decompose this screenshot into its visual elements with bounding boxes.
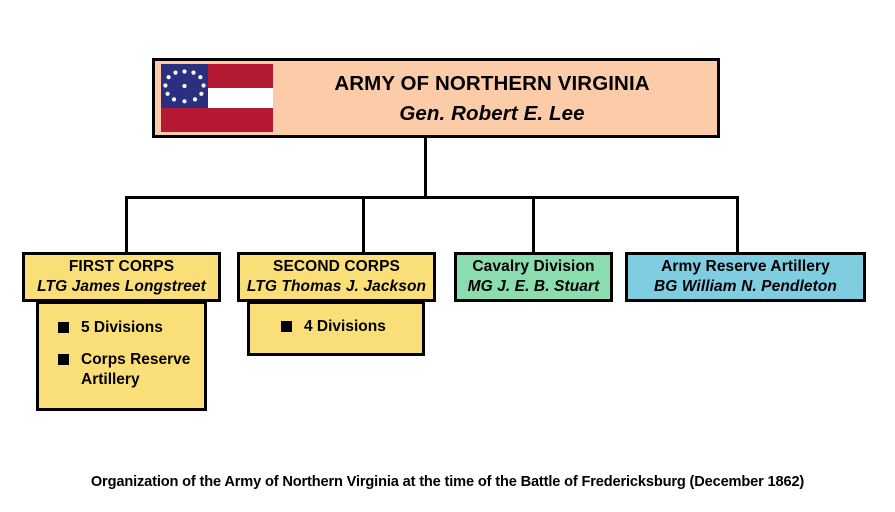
root-text-group: ARMY OF NORTHERN VIRGINIA Gen. Robert E.… [267, 71, 717, 126]
second-corps-commander: LTG Thomas J. Jackson [247, 278, 426, 297]
artillery-commander: BG William N. Pendleton [654, 278, 837, 297]
first-corps-title: FIRST CORPS [69, 258, 174, 277]
cavalry-commander: MG J. E. B. Stuart [468, 278, 600, 297]
first-corps-subunit-label: 5 Divisions [81, 318, 163, 337]
root-title: ARMY OF NORTHERN VIRGINIA [334, 71, 649, 96]
confederate-stars-and-bars-flag-icon [161, 64, 273, 132]
chart-caption: Organization of the Army of Northern Vir… [0, 474, 895, 490]
second-corps-subunit-label: 4 Divisions [304, 317, 386, 336]
cavalry-title: Cavalry Division [472, 258, 594, 277]
node-second-corps[interactable]: SECOND CORPS LTG Thomas J. Jackson [237, 252, 436, 302]
bullet-square-icon [281, 321, 292, 332]
second-corps-subunits-box: 4 Divisions [247, 301, 425, 356]
node-army-reserve-artillery[interactable]: Army Reserve Artillery BG William N. Pen… [625, 252, 866, 302]
node-army-of-northern-virginia[interactable]: ARMY OF NORTHERN VIRGINIA Gen. Robert E.… [152, 58, 720, 138]
bullet-square-icon [58, 354, 69, 365]
root-commander: Gen. Robert E. Lee [399, 101, 584, 126]
first-corps-subunits-box: 5 Divisions Corps Reserve Artillery [36, 301, 207, 411]
artillery-title: Army Reserve Artillery [661, 258, 830, 277]
bullet-square-icon [58, 322, 69, 333]
node-cavalry-division[interactable]: Cavalry Division MG J. E. B. Stuart [454, 252, 613, 302]
first-corps-subunit-label: Corps Reserve Artillery [81, 350, 204, 389]
second-corps-title: SECOND CORPS [273, 258, 400, 277]
list-item: 4 Divisions [281, 317, 422, 336]
list-item: 5 Divisions [58, 318, 204, 337]
list-item: Corps Reserve Artillery [58, 350, 204, 389]
node-first-corps[interactable]: FIRST CORPS LTG James Longstreet [22, 252, 221, 302]
first-corps-commander: LTG James Longstreet [37, 278, 206, 297]
